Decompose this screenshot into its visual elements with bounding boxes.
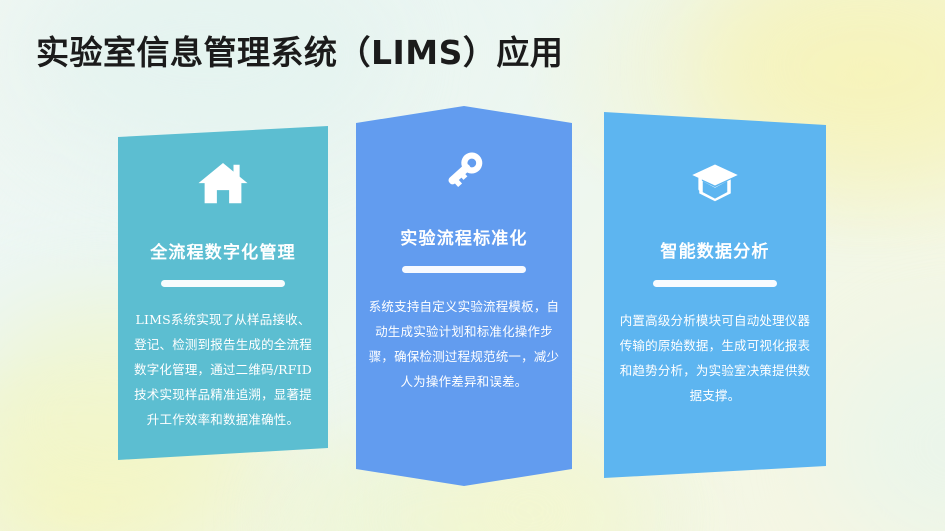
card-2-divider: [402, 266, 526, 273]
card-1-divider: [161, 280, 285, 287]
card-1-body: LIMS系统实现了从样品接收、登记、检测到报告生成的全流程数字化管理，通过二维码…: [134, 307, 312, 432]
graduation-cap-icon: [687, 154, 743, 210]
house-icon: [195, 156, 251, 212]
card-1-title: 全流程数字化管理: [150, 238, 296, 263]
card-group: 全流程数字化管理 LIMS系统实现了从样品接收、登记、检测到报告生成的全流程数字…: [0, 0, 945, 531]
card-2-title: 实验流程标准化: [400, 224, 527, 249]
key-icon: [436, 142, 492, 198]
feature-card-process-standardization[interactable]: 实验流程标准化 系统支持自定义实验流程模板，自动生成实验计划和标准化操作步骤，确…: [356, 106, 572, 486]
card-2-body: 系统支持自定义实验流程模板，自动生成实验计划和标准化操作步骤，确保检测过程规范统…: [366, 294, 562, 394]
card-3-title: 智能数据分析: [660, 237, 769, 262]
feature-card-digital-management[interactable]: 全流程数字化管理 LIMS系统实现了从样品接收、登记、检测到报告生成的全流程数字…: [118, 126, 328, 460]
feature-card-data-analysis[interactable]: 智能数据分析 内置高级分析模块可自动处理仪器传输的原始数据，生成可视化报表和趋势…: [604, 112, 826, 478]
card-3-divider: [653, 280, 777, 287]
card-3-body: 内置高级分析模块可自动处理仪器传输的原始数据，生成可视化报表和趋势分析，为实验室…: [617, 308, 813, 408]
